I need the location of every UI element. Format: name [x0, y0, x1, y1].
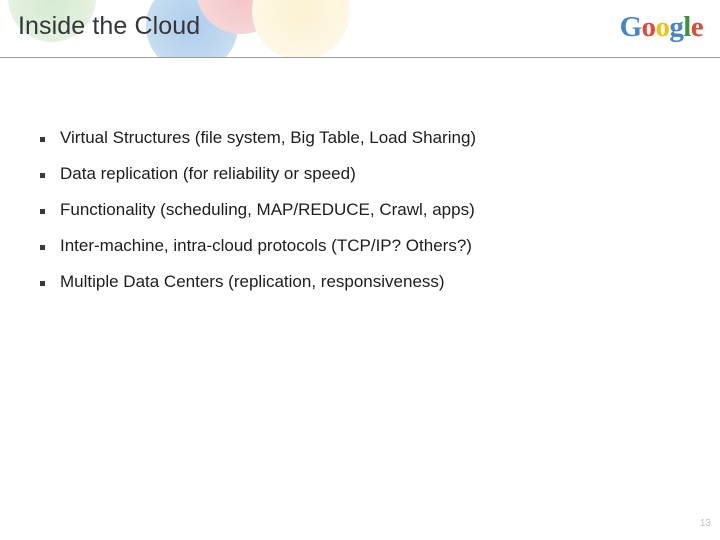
- list-item: Functionality (scheduling, MAP/REDUCE, C…: [40, 200, 680, 236]
- list-item: Virtual Structures (file system, Big Tab…: [40, 128, 680, 164]
- logo-letter-l-green: l: [683, 13, 690, 42]
- logo-letter-o-red: o: [642, 13, 656, 42]
- logo-letter-g-blue: G: [620, 13, 642, 42]
- bullet-text: Functionality (scheduling, MAP/REDUCE, C…: [60, 200, 680, 220]
- bullet-text: Virtual Structures (file system, Big Tab…: [60, 128, 680, 148]
- bullet-text: Data replication (for reliability or spe…: [60, 164, 680, 184]
- yellow-circle: [252, 0, 350, 58]
- square-bullet-icon: [40, 209, 45, 214]
- list-item: Inter-machine, intra-cloud protocols (TC…: [40, 236, 680, 272]
- google-logo: Google: [620, 13, 703, 42]
- bullet-list: Virtual Structures (file system, Big Tab…: [40, 128, 680, 308]
- square-bullet-icon: [40, 137, 45, 142]
- page-number: 13: [700, 518, 711, 529]
- square-bullet-icon: [40, 245, 45, 250]
- logo-letter-o-yellow: o: [655, 13, 669, 42]
- list-item: Multiple Data Centers (replication, resp…: [40, 272, 680, 308]
- square-bullet-icon: [40, 173, 45, 178]
- header-divider: [0, 57, 720, 58]
- bullet-text: Inter-machine, intra-cloud protocols (TC…: [60, 236, 680, 256]
- page-title: Inside the Cloud: [18, 12, 200, 41]
- square-bullet-icon: [40, 281, 45, 286]
- bullet-text: Multiple Data Centers (replication, resp…: [60, 272, 680, 292]
- logo-letter-e-red: e: [691, 13, 703, 42]
- logo-letter-g-blue-2: g: [669, 13, 683, 42]
- red-circle: [196, 0, 286, 34]
- presentation-slide: Inside the Cloud Google Virtual Structur…: [0, 0, 720, 540]
- list-item: Data replication (for reliability or spe…: [40, 164, 680, 200]
